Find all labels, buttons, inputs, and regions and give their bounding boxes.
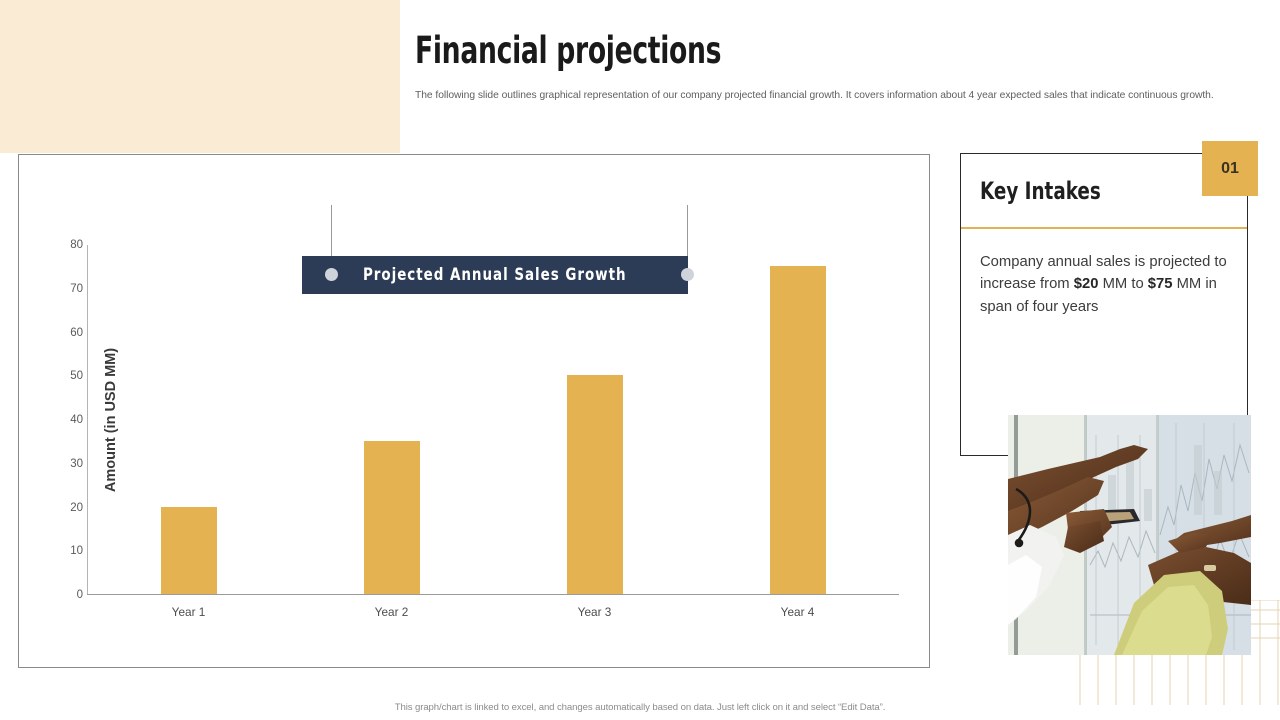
team-analyzing-charts-photo	[1008, 415, 1251, 655]
decorative-beige-block	[0, 0, 400, 153]
x-axis-label: Year 2	[290, 605, 493, 619]
bar-slot	[87, 244, 290, 594]
bar-1[interactable]	[161, 507, 217, 595]
bar-chart-plot: Amount (in USD MM) 01020304050607080 Yea…	[87, 245, 899, 595]
key-intakes-header: Key Intakes 01	[961, 154, 1247, 229]
y-axis-tick-label: 30	[57, 458, 83, 470]
page-subtitle: The following slide outlines graphical r…	[415, 89, 1235, 104]
y-axis-ticks: 01020304050607080	[57, 245, 83, 595]
y-axis-tick-label: 20	[57, 502, 83, 514]
x-axis-labels: Year 1Year 2Year 3Year 4	[87, 595, 899, 619]
key-intakes-body: Company annual sales is projected to inc…	[961, 229, 1247, 318]
bar-2[interactable]	[364, 441, 420, 594]
bar-series	[87, 244, 899, 594]
x-axis-label: Year 3	[493, 605, 696, 619]
key-intakes-title: Key Intakes	[980, 177, 1101, 205]
chart-footnote: This graph/chart is linked to excel, and…	[0, 702, 1280, 713]
bar-4[interactable]	[770, 266, 826, 594]
key-intakes-badge: 01	[1202, 141, 1258, 196]
key-value-to: $75	[1148, 276, 1173, 292]
key-intakes-panel: Key Intakes 01 Company annual sales is p…	[960, 153, 1248, 456]
x-axis-label: Year 1	[87, 605, 290, 619]
key-value-from: $20	[1074, 276, 1099, 292]
bar-slot	[493, 244, 696, 594]
x-axis-label: Year 4	[696, 605, 899, 619]
y-axis-tick-label: 10	[57, 545, 83, 557]
y-axis-tick-label: 0	[57, 589, 83, 601]
bar-slot	[290, 244, 493, 594]
slide-header: Financial projections The following slid…	[415, 30, 1245, 103]
y-axis-tick-label: 40	[57, 414, 83, 426]
slide-root: Financial projections The following slid…	[0, 0, 1280, 720]
y-axis-tick-label: 80	[57, 239, 83, 251]
key-body-mid: MM to	[1098, 276, 1147, 292]
page-title: Financial projections	[415, 30, 1079, 73]
bar-3[interactable]	[567, 375, 623, 594]
y-axis-tick-label: 70	[57, 283, 83, 295]
y-axis-tick-label: 60	[57, 327, 83, 339]
chart-panel[interactable]: Projected Annual Sales Growth Amount (in…	[18, 154, 930, 668]
y-axis-tick-label: 50	[57, 370, 83, 382]
bar-slot	[696, 244, 899, 594]
